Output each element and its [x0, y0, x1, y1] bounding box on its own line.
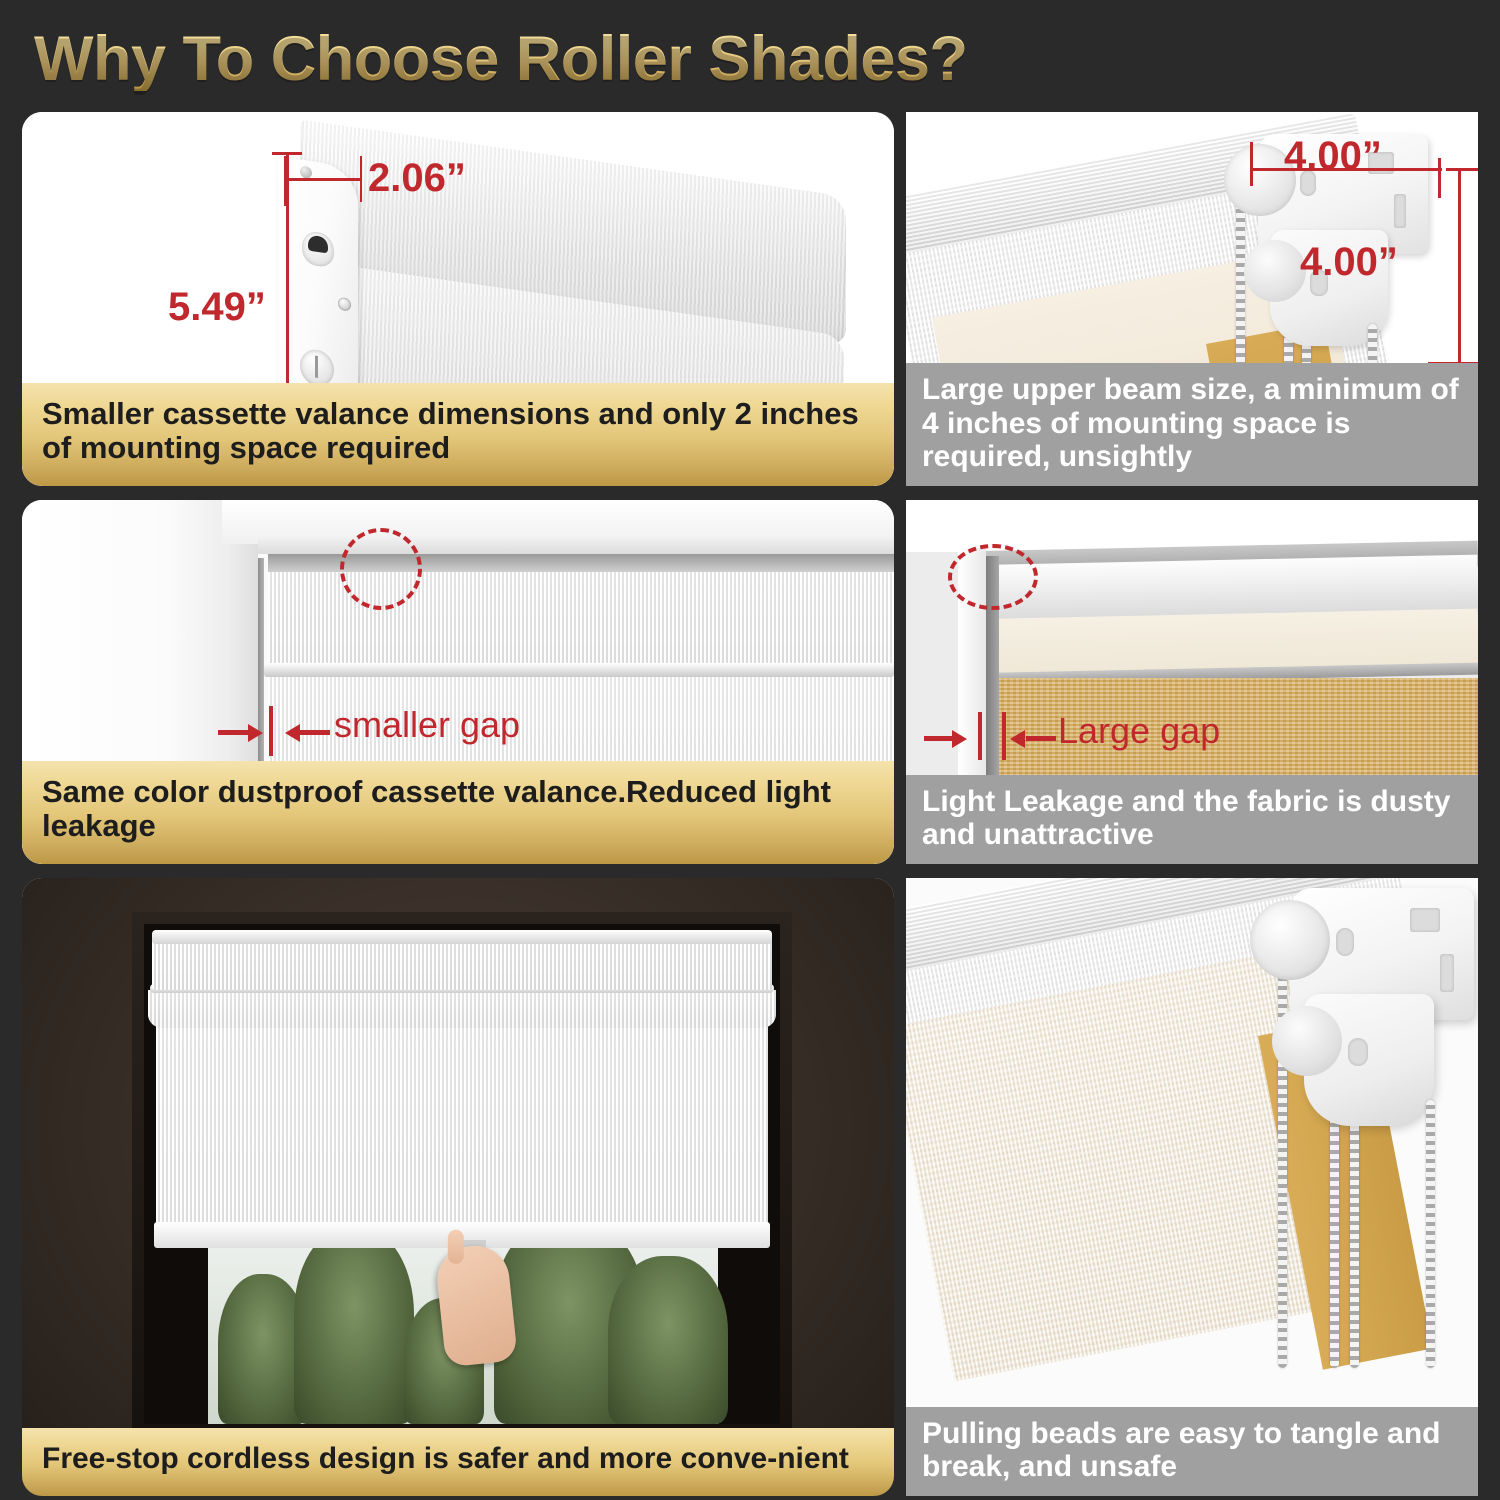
gap-arrow-head-right — [1010, 730, 1025, 748]
dimension-label-width: 4.00” — [1284, 134, 1382, 179]
caption-bar-large-gap: Light Leakage and the fabric is dusty an… — [906, 775, 1478, 864]
page-header: Why To Choose Roller Shades? — [34, 18, 1134, 100]
gap-arrow-line-right — [300, 730, 330, 735]
panel-pulling-beads: Pulling beads are easy to tangle and bre… — [906, 878, 1478, 1496]
gap-callout-label: smaller gap — [334, 704, 520, 746]
panel-cassette-dimensions: 2.06” 5.49” Smaller cassette valance dim… — [22, 112, 894, 486]
caption-bar-cassette-dimensions: Smaller cassette valance dimensions and … — [22, 383, 894, 486]
dimension-label-width: 2.06” — [368, 156, 466, 201]
panel-large-beam-dimensions: 4.00” 4.00” Large upper beam size, a min… — [906, 112, 1478, 486]
gap-marker-left — [978, 712, 982, 760]
dim-tick-left — [1250, 142, 1253, 186]
gap-arrow-head-right — [285, 724, 300, 742]
gap-arrow-head-left — [248, 724, 263, 742]
caption-text: Pulling beads are easy to tangle and bre… — [922, 1417, 1462, 1484]
gap-callout-label: Large gap — [1058, 710, 1220, 752]
caption-text: Light Leakage and the fabric is dusty an… — [922, 785, 1462, 852]
caption-bar-smaller-gap: Same color dustproof cassette valance.Re… — [22, 761, 894, 864]
page-title: Why To Choose Roller Shades? — [34, 28, 967, 91]
caption-text: Free-stop cordless design is safer and m… — [42, 1442, 849, 1476]
gap-marker-right — [1002, 712, 1006, 760]
caption-text: Same color dustproof cassette valance.Re… — [42, 775, 874, 844]
dimension-label-height: 5.49” — [168, 285, 266, 330]
roller-bracket — [1254, 888, 1474, 1128]
gap-arrow-head-left — [952, 730, 967, 748]
gap-marker — [269, 706, 273, 756]
caption-bar-cordless: Free-stop cordless design is safer and m… — [22, 1428, 894, 1496]
comparison-grid: 2.06” 5.49” Smaller cassette valance dim… — [0, 112, 1500, 1500]
dim-line-height — [1458, 168, 1461, 364]
cordless-window-photo — [22, 878, 894, 1496]
highlight-circle-icon — [340, 528, 422, 610]
caption-text: Smaller cassette valance dimensions and … — [42, 397, 874, 466]
panel-smaller-gap: smaller gap Same color dustproof cassett… — [22, 500, 894, 864]
caption-bar-pulling-beads: Pulling beads are easy to tangle and bre… — [906, 1407, 1478, 1496]
dimension-label-height: 4.00” — [1300, 240, 1398, 285]
panel-large-gap: Large gap Light Leakage and the fabric i… — [906, 500, 1478, 864]
dim-line-width — [284, 178, 362, 181]
gap-arrow-line-right — [1026, 736, 1056, 741]
bead-chain — [1426, 1100, 1435, 1368]
panel-cordless-window: Free-stop cordless design is safer and m… — [22, 878, 894, 1496]
highlight-circle-icon — [948, 544, 1038, 610]
dim-tick-right — [1438, 158, 1441, 198]
dim-cap-top — [272, 152, 302, 155]
caption-bar-large-beam: Large upper beam size, a minimum of 4 in… — [906, 363, 1478, 486]
caption-text: Large upper beam size, a minimum of 4 in… — [922, 373, 1462, 474]
pulling-beads-photo — [906, 878, 1478, 1496]
dim-cap-top — [1446, 168, 1478, 171]
